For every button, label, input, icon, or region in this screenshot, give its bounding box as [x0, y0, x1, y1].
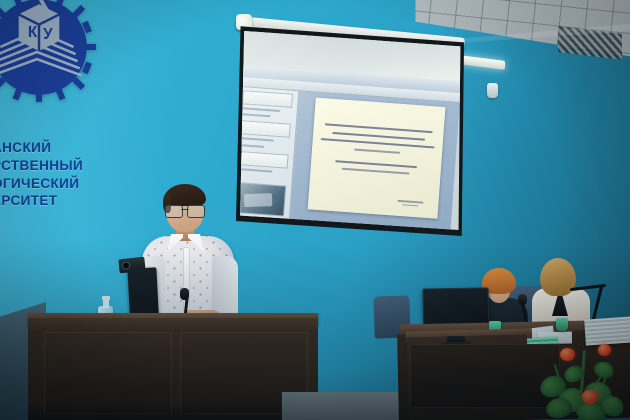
svg-text:У: У: [43, 26, 53, 43]
university-name-line-2: РСТВЕННЫЙ: [0, 157, 132, 175]
wall-bottom-shade: [0, 240, 630, 420]
wall-sensor-icon: [487, 83, 498, 98]
university-emblem: К У: [0, 0, 100, 110]
university-name-line-4: ЕРСИТЕТ: [0, 192, 132, 210]
taskbar-button: [297, 227, 333, 236]
outline-line: [242, 113, 271, 117]
slide-thumbnail: [239, 152, 288, 167]
outline-line: [238, 168, 273, 173]
eyeglasses-icon: [164, 205, 206, 216]
university-name-line-3: ОГИЧЕСКИЙ: [0, 175, 132, 193]
outline-line: [242, 107, 279, 112]
taskbar-button: [337, 230, 368, 236]
projection-screen: [236, 16, 472, 242]
photo-scene: К У АНСКИЙ РСТВЕННЫЙ ОГИЧЕСКИЙ ЕРСИТЕТ: [0, 0, 630, 420]
slide-thumbnail: [243, 91, 292, 106]
taskbar-button: [257, 224, 293, 234]
outline-line: [240, 137, 273, 141]
presentation-software: [236, 65, 461, 236]
slide-footer: [397, 198, 424, 209]
outline-line: [239, 144, 263, 148]
university-name: АНСКИЙ РСТВЕННЫЙ ОГИЧЕСКИЙ ЕРСИТЕТ: [0, 139, 132, 210]
university-name-line-1: АНСКИЙ: [0, 139, 132, 157]
current-slide: [308, 97, 445, 218]
slide-editing-area: [289, 91, 460, 236]
slide-thumbnail: [241, 121, 290, 136]
svg-text:К: К: [28, 24, 38, 41]
screen-surface: [236, 22, 464, 236]
